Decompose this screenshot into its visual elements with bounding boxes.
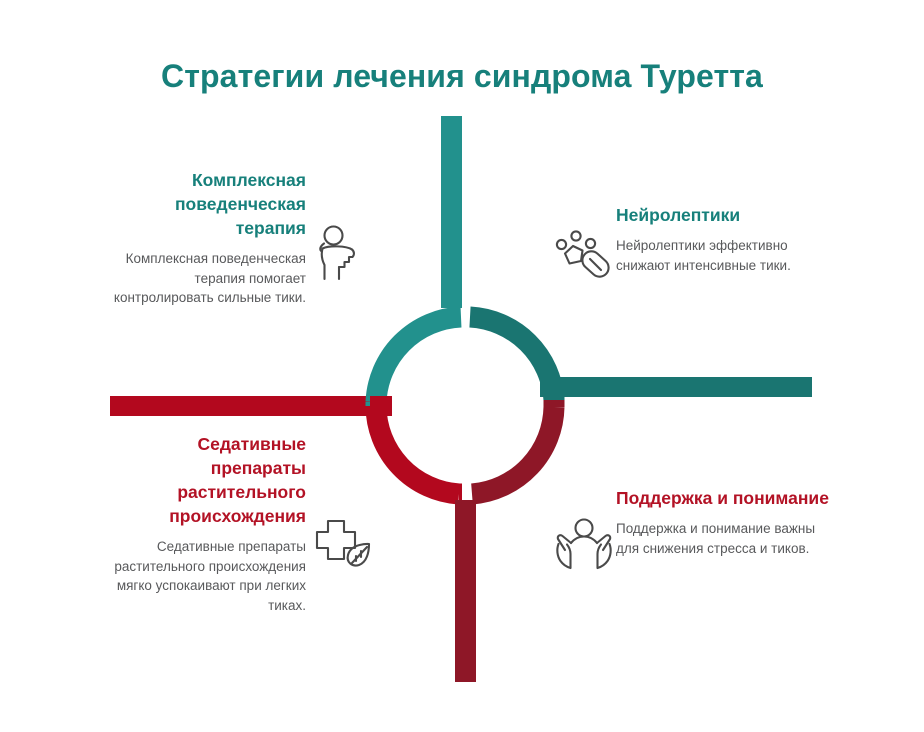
raised-hands-icon (555, 517, 613, 575)
infographic-canvas: Стратегии лечения синдрома Туретта (0, 0, 924, 732)
arm-bottom-stem (455, 520, 476, 682)
cross-leaf-icon (311, 518, 375, 572)
join-top (441, 286, 462, 308)
card-neuroleptics-heading: Нейролептики (616, 203, 816, 227)
arm-left (110, 396, 390, 416)
card-support: Поддержка и понимание Поддержка и понима… (616, 486, 838, 558)
ring-arc-bottom-left (376, 406, 459, 494)
card-cbt-heading: Комплексная поведенческая терапия (106, 168, 306, 240)
join-bottom (455, 500, 476, 524)
card-cbt: Комплексная поведенческая терапия Компле… (106, 168, 306, 308)
join-left (370, 396, 392, 416)
head-open-icon (313, 224, 361, 282)
card-support-body: Поддержка и понимание важны для снижения… (616, 519, 838, 558)
central-ring-diagram (0, 0, 924, 732)
pills-icon (554, 227, 610, 283)
ring-arc-top-left (376, 317, 461, 402)
arm-top-stem (441, 116, 462, 296)
card-sedatives-heading: Седативные препараты растительного проис… (106, 432, 306, 528)
arm-right (540, 377, 812, 397)
join-right (540, 377, 564, 397)
card-cbt-body: Комплексная поведенческая терапия помога… (106, 249, 306, 308)
card-sedatives-body: Седативные препараты растительного проис… (106, 537, 306, 615)
card-sedatives: Седативные препараты растительного проис… (106, 432, 306, 615)
ring-arc-bottom-right (472, 407, 554, 494)
card-neuroleptics: Нейролептики Нейролептики эффективно сни… (616, 203, 816, 275)
card-neuroleptics-body: Нейролептики эффективно снижают интенсив… (616, 236, 816, 275)
card-support-heading: Поддержка и понимание (616, 486, 838, 510)
